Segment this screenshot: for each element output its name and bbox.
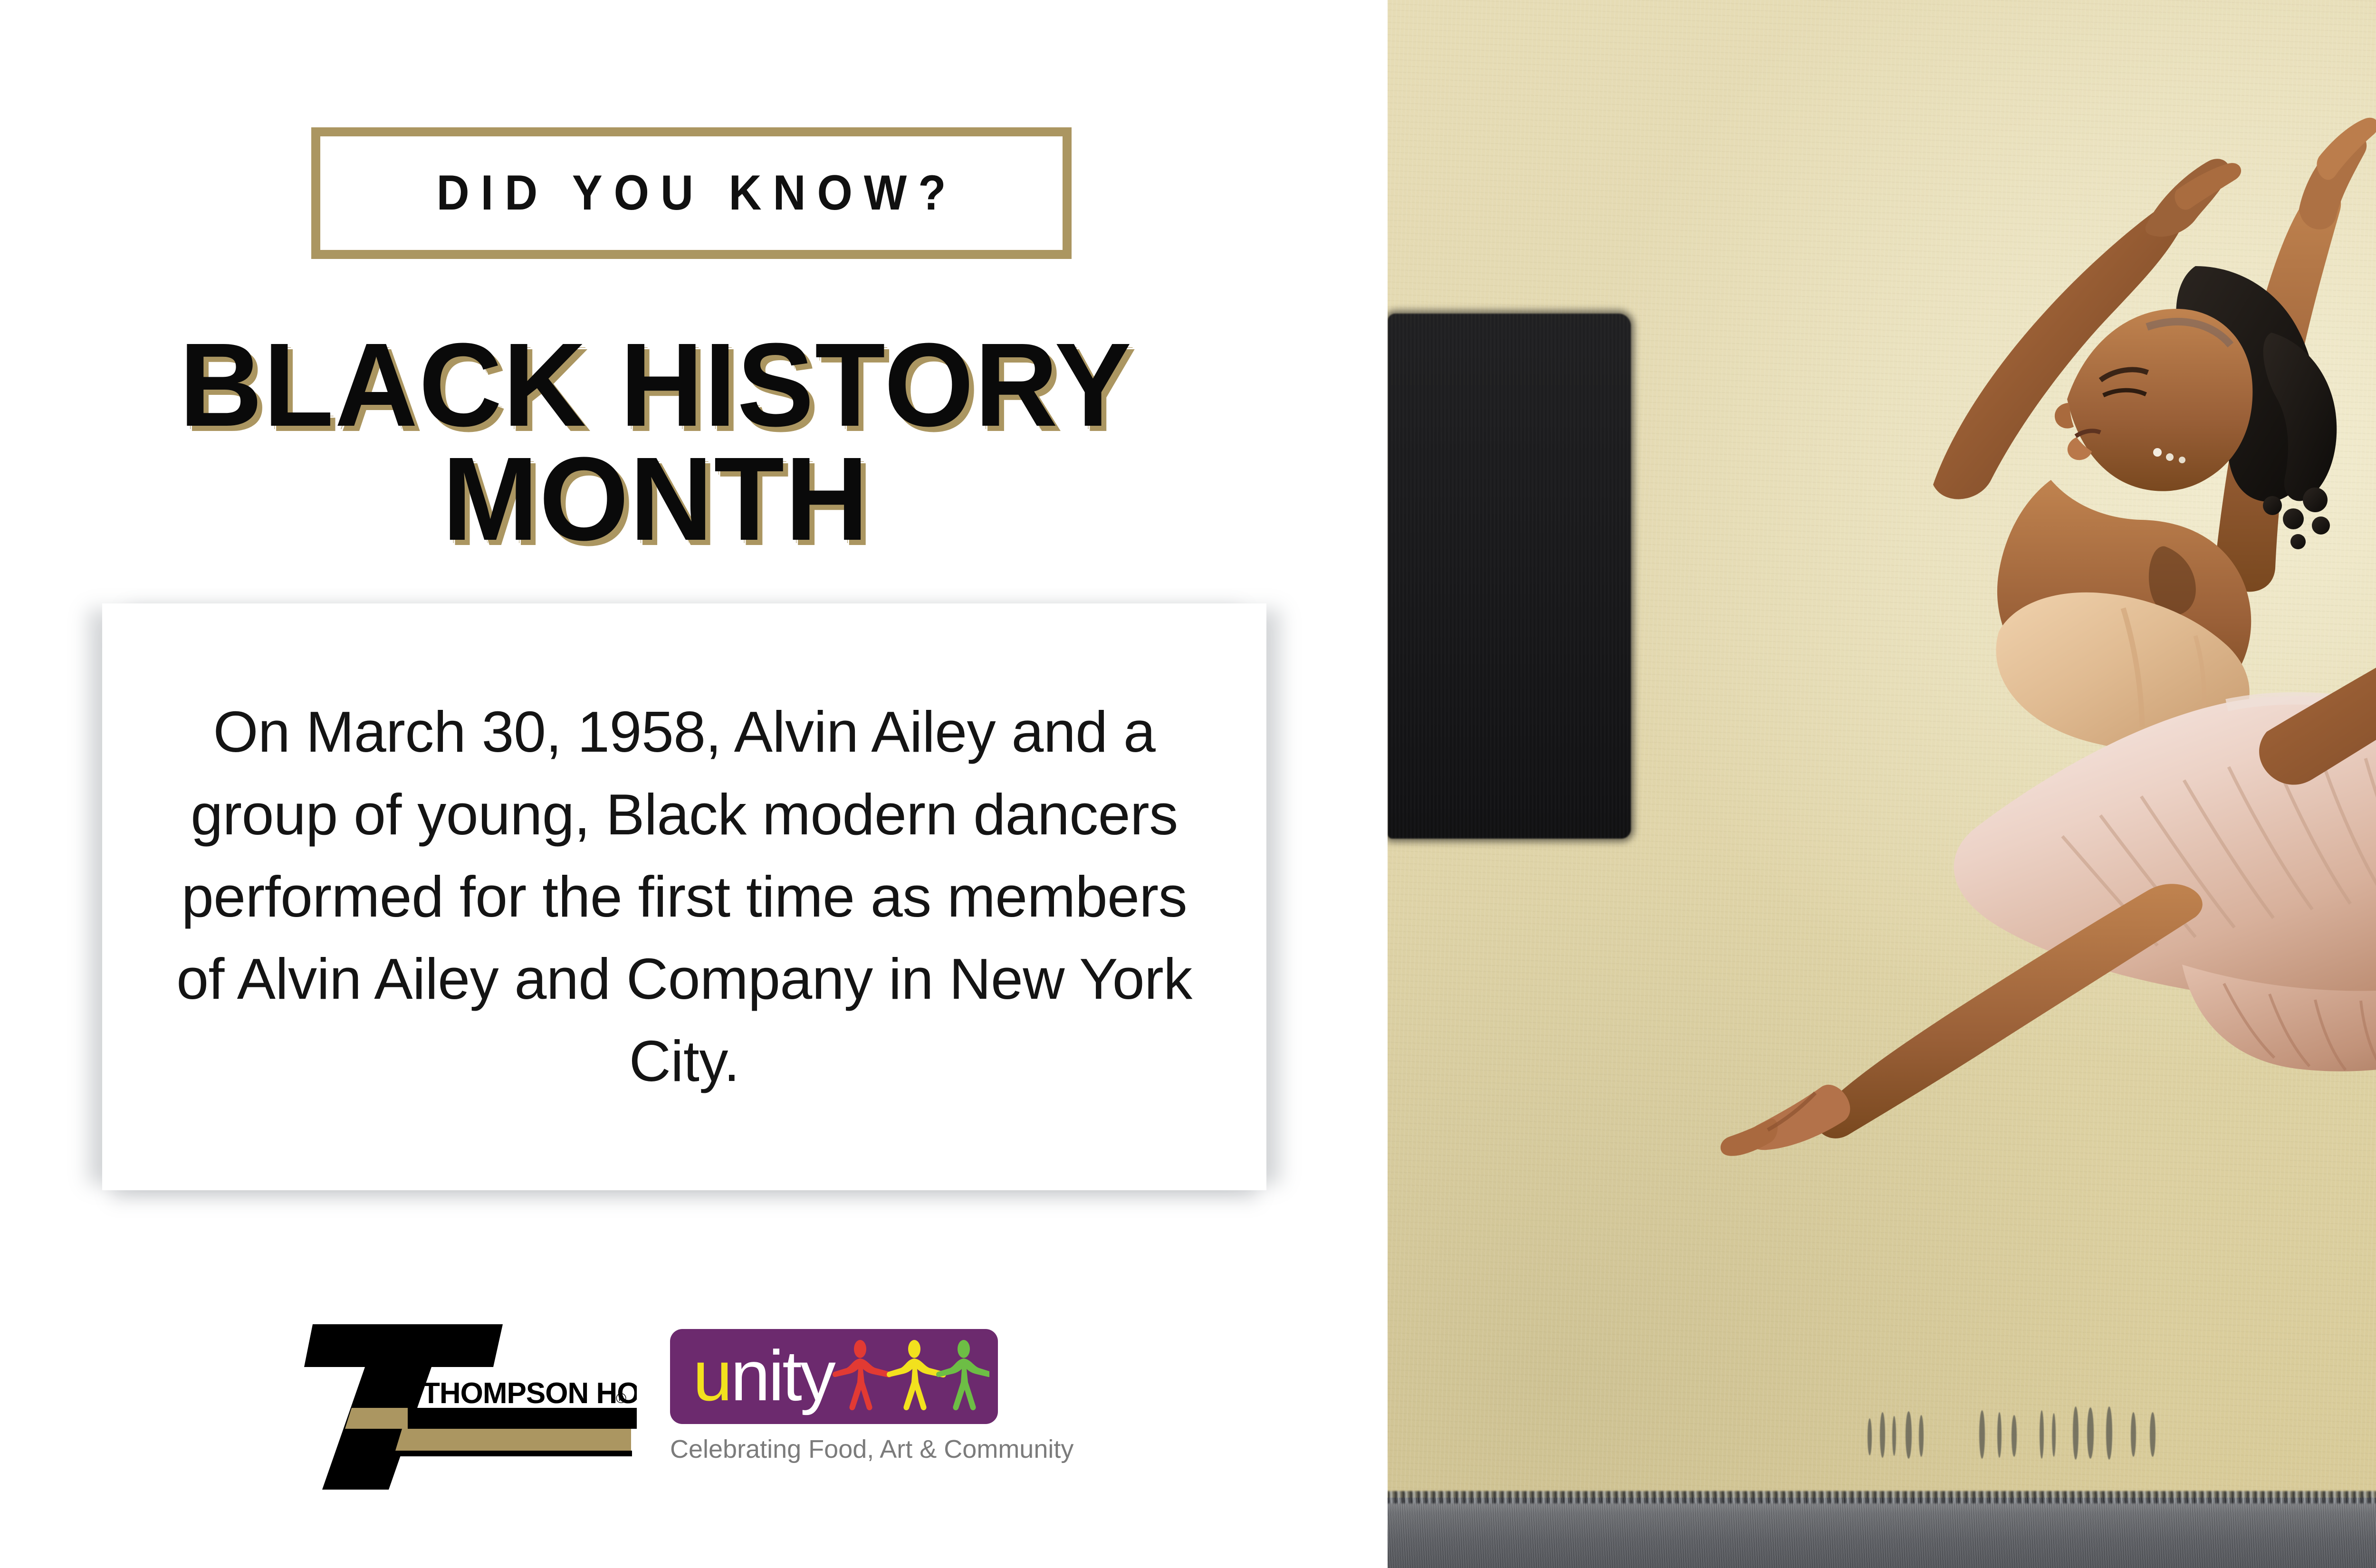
dancer-earring — [2153, 448, 2162, 457]
unity-badge: unity — [670, 1329, 998, 1424]
dancer-photograph — [1388, 0, 2376, 1568]
headline-line-2: MONTH — [19, 442, 1292, 556]
unity-figure-green — [936, 1340, 989, 1410]
thompson-hospitality-logo[interactable]: THOMPSON HOSPITALITY ® — [304, 1300, 637, 1490]
page-title: BLACK HISTORY MONTH — [19, 328, 1292, 556]
unity-people-icon — [833, 1339, 989, 1417]
unity-letter-u: u — [693, 1336, 730, 1415]
dancer-back-leg — [2259, 534, 2376, 784]
fact-text: On March 30, 1958, Alvin Ailey and a gro… — [166, 691, 1202, 1102]
unity-letters-nity: nity — [730, 1336, 834, 1415]
left-content-panel: DID YOU KNOW? BLACK HISTORY MONTH On Mar… — [0, 0, 1388, 1568]
dancer-earring — [2166, 453, 2174, 461]
ground-texture — [1388, 1498, 2376, 1568]
logo-row: THOMPSON HOSPITALITY ® unity — [304, 1300, 1102, 1499]
registered-trademark-icon: ® — [616, 1391, 626, 1406]
did-you-know-box: DID YOU KNOW? — [311, 127, 1072, 259]
dancer-figure — [1388, 0, 2376, 1568]
headline-line-1: BLACK HISTORY — [19, 328, 1292, 442]
unity-logo[interactable]: unity — [670, 1329, 1022, 1486]
did-you-know-label: DID YOU KNOW? — [425, 165, 958, 221]
dancer-earring — [2179, 457, 2185, 463]
unity-wordmark: unity — [693, 1329, 834, 1423]
thompson-wordmark: THOMPSON HOSPITALITY — [422, 1377, 637, 1410]
unity-tagline: Celebrating Food, Art & Community — [670, 1434, 998, 1464]
poster-canvas: DID YOU KNOW? BLACK HISTORY MONTH On Mar… — [0, 0, 2376, 1568]
unity-figure-red — [833, 1340, 892, 1410]
concrete-ground-strip — [1388, 1498, 2376, 1568]
fact-card: On March 30, 1958, Alvin Ailey and a gro… — [102, 603, 1266, 1190]
